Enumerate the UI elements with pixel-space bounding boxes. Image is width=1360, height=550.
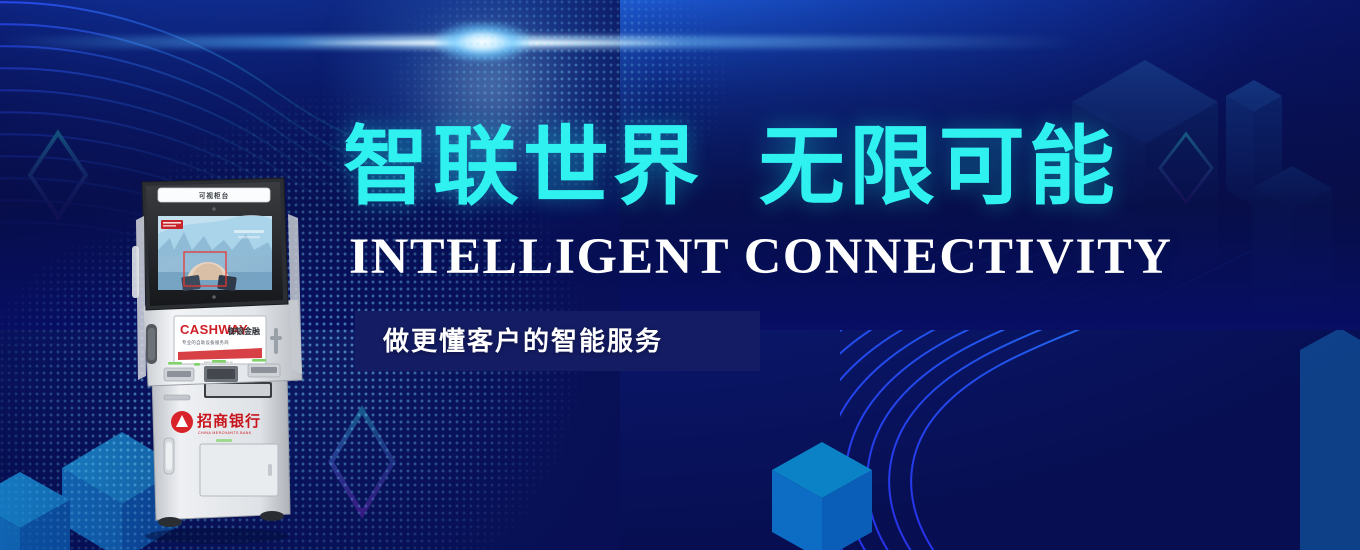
hero-banner: 招商银行 CHINA MERCHANTS BANK CASHWAY 御银金融 专… (0, 0, 1360, 550)
svg-text:御银金融: 御银金融 (227, 326, 260, 336)
light-burst-icon (435, 22, 531, 62)
self-service-banking-kiosk: 招商银行 CHINA MERCHANTS BANK CASHWAY 御银金融 专… (112, 176, 312, 544)
svg-text:招商银行: 招商银行 (197, 412, 261, 430)
headline-en: INTELLIGENT CONNECTIVITY (349, 232, 1173, 283)
svg-text:专业的自助设备服务商: 专业的自助设备服务商 (182, 339, 229, 346)
diamond-left (30, 133, 86, 217)
diamond-right (1160, 134, 1212, 202)
svg-text:可视柜台: 可视柜台 (199, 191, 229, 200)
cashway-panel: CASHWAY 御银金融 专业的自助设备服务商 www.cashway.com.… (174, 316, 266, 364)
tagline-cn: 做更懂客户的智能服务 (383, 325, 663, 357)
kiosk-screen-head: 可视柜台 (142, 178, 288, 310)
headline-cn: 智联世界 无限可能 (343, 124, 1119, 210)
diamond-bottom-left (331, 410, 393, 514)
svg-text:CHINA MERCHANTS BANK: CHINA MERCHANTS BANK (198, 431, 252, 435)
bank-logo: 招商银行 CHINA MERCHANTS BANK (171, 411, 261, 435)
